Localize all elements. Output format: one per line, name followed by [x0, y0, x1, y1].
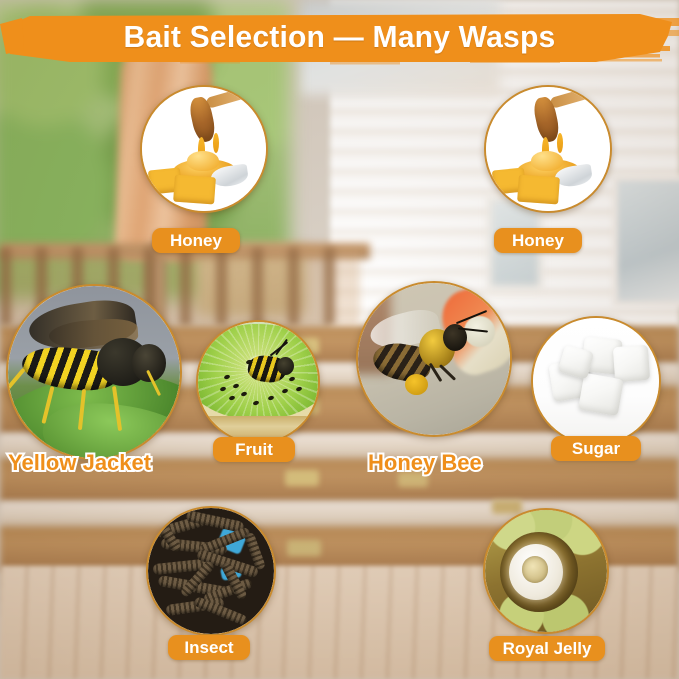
title-banner: Bait Selection — Many Wasps	[0, 6, 679, 68]
sugar-cubes-icon[interactable]	[531, 316, 661, 446]
yellow-jacket-wasp-icon[interactable]	[6, 284, 182, 460]
honey-bee-icon[interactable]	[356, 281, 512, 437]
honey-dipper-honeycomb-icon[interactable]	[140, 85, 268, 213]
label-honey-bee-text: Honey Bee	[368, 450, 482, 475]
page-title: Bait Selection — Many Wasps	[10, 6, 669, 68]
mealworm-larvae-icon[interactable]	[146, 506, 276, 636]
label-yellow-jacket-text: Yellow Jacket	[8, 450, 151, 475]
label-royal-jelly[interactable]: Royal Jelly	[489, 636, 605, 661]
label-sugar[interactable]: Sugar	[551, 436, 641, 461]
label-honey-bee: Honey Bee	[368, 450, 482, 476]
product-infographic: Bait Selection — Many Wasps Honey	[0, 0, 679, 679]
kiwi-fruit-wasp-icon[interactable]	[196, 320, 320, 444]
label-yellow-jacket: Yellow Jacket	[8, 450, 151, 476]
honey-dipper-honeycomb-icon[interactable]	[484, 85, 612, 213]
label-fruit[interactable]: Fruit	[213, 437, 295, 462]
label-honey-right[interactable]: Honey	[494, 228, 582, 253]
label-insect[interactable]: Insect	[168, 635, 250, 660]
label-honey-left[interactable]: Honey	[152, 228, 240, 253]
royal-jelly-cell-icon[interactable]	[483, 508, 609, 634]
